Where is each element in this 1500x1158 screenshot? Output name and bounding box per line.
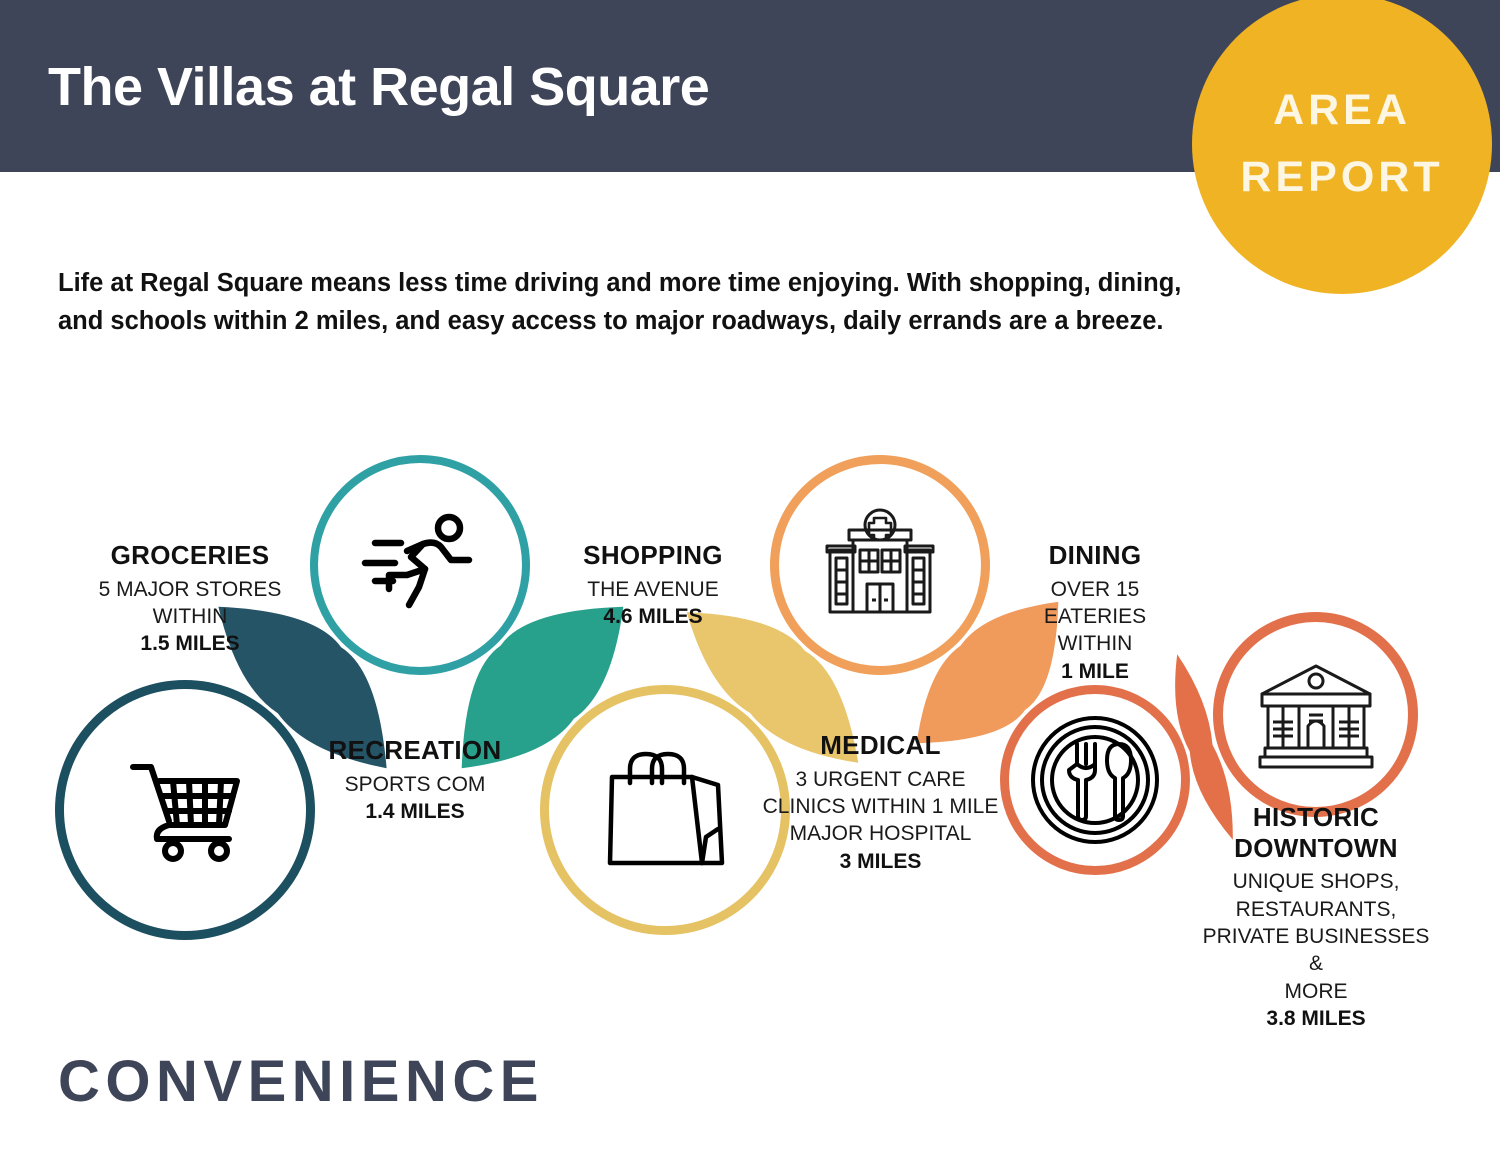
label-medical-sub: 3 URGENT CARECLINICS WITHIN 1 MILEMAJOR … [758, 766, 1003, 848]
label-shopping-distance: 4.6 MILES [553, 603, 753, 630]
label-dining-distance: 1 MILE [1000, 658, 1190, 685]
label-historic-downtown-title: HISTORICDOWNTOWN [1196, 802, 1436, 863]
label-medical: MEDICAL 3 URGENT CARECLINICS WITHIN 1 MI… [758, 730, 1003, 875]
node-circle-recreation[interactable] [310, 455, 530, 675]
running-person-icon [361, 513, 479, 617]
area-report-badge: AREA REPORT [1192, 0, 1492, 294]
shopping-cart-icon [125, 755, 245, 865]
node-circle-medical[interactable] [770, 455, 990, 675]
label-groceries-title: GROCERIES [90, 540, 290, 571]
label-historic-downtown-sub: UNIQUE SHOPS,RESTAURANTS,PRIVATE BUSINES… [1196, 868, 1436, 1004]
label-historic-downtown: HISTORICDOWNTOWN UNIQUE SHOPS,RESTAURANT… [1196, 802, 1436, 1032]
label-shopping-title: SHOPPING [553, 540, 753, 571]
shopping-bag-icon [600, 749, 730, 871]
label-medical-distance: 3 MILES [758, 848, 1003, 875]
label-groceries-distance: 1.5 MILES [90, 630, 290, 657]
footer-word: CONVENIENCE [58, 1048, 544, 1115]
hospital-building-icon [816, 508, 944, 622]
node-circle-groceries[interactable] [55, 680, 315, 940]
label-dining: DINING OVER 15 EATERIESWITHIN 1 MILE [1000, 540, 1190, 685]
node-circle-shopping[interactable] [540, 685, 790, 935]
label-shopping: SHOPPING THE AVENUE 4.6 MILES [553, 540, 753, 630]
label-recreation-distance: 1.4 MILES [315, 798, 515, 825]
label-medical-title: MEDICAL [758, 730, 1003, 761]
intro-paragraph: Life at Regal Square means less time dri… [58, 264, 1183, 342]
label-groceries: GROCERIES 5 MAJOR STORESWITHIN 1.5 MILES [90, 540, 290, 658]
label-shopping-sub: THE AVENUE [553, 576, 753, 603]
classical-building-icon [1253, 660, 1379, 770]
convenience-diagram: GROCERIES 5 MAJOR STORESWITHIN 1.5 MILES… [0, 420, 1500, 1020]
badge-line-area: AREA [1273, 77, 1411, 144]
badge-line-report: REPORT [1240, 144, 1443, 211]
node-circle-dining[interactable] [1000, 685, 1190, 875]
label-recreation: RECREATION SPORTS COM 1.4 MILES [315, 735, 515, 825]
page-title: The Villas at Regal Square [48, 56, 709, 118]
label-groceries-sub: 5 MAJOR STORESWITHIN [90, 576, 290, 631]
label-recreation-sub: SPORTS COM [315, 771, 515, 798]
node-circle-historic-downtown[interactable] [1213, 612, 1418, 817]
label-dining-sub: OVER 15 EATERIESWITHIN [1000, 576, 1190, 658]
label-dining-title: DINING [1000, 540, 1190, 571]
plate-fork-spoon-icon [1029, 714, 1161, 846]
label-historic-downtown-distance: 3.8 MILES [1196, 1005, 1436, 1032]
label-recreation-title: RECREATION [315, 735, 515, 766]
